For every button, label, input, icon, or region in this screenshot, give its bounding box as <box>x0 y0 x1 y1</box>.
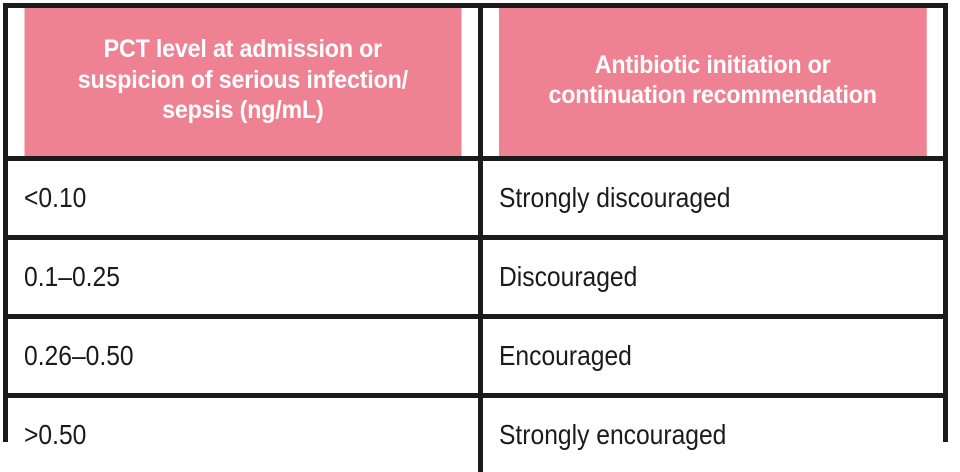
cell-recommendation-text: Strongly discouraged <box>499 183 730 214</box>
table-row: <0.10 Strongly discouraged <box>8 159 943 238</box>
column-header-pct-level: PCT level at admission or suspicion of s… <box>25 8 464 159</box>
table-row: 0.1–0.25 Discouraged <box>8 238 943 317</box>
recommendation-table-container: PCT level at admission or suspicion of s… <box>3 3 948 442</box>
column-header-recommendation: Antibiotic initiation or continuation re… <box>496 8 927 159</box>
table-header: PCT level at admission or suspicion of s… <box>8 8 943 159</box>
column-header-pct-level-line-2: suspicion of serious infection/ <box>36 65 450 96</box>
cell-pct-level-text: 0.1–0.25 <box>24 262 120 293</box>
cell-pct-level-text: <0.10 <box>24 183 86 214</box>
column-header-recommendation-line-1: Antibiotic initiation or <box>510 50 916 81</box>
cell-pct-level-text: >0.50 <box>24 420 86 451</box>
pct-antibiotic-recommendation-table: PCT level at admission or suspicion of s… <box>8 8 943 472</box>
cell-pct-level: 0.1–0.25 <box>8 238 480 317</box>
column-header-pct-level-line-3: sepsis (ng/mL) <box>36 95 450 126</box>
cell-pct-level: >0.50 <box>8 396 480 472</box>
cell-recommendation: Strongly discouraged <box>480 159 943 238</box>
cell-pct-level: 0.26–0.50 <box>8 317 480 396</box>
table-body: <0.10 Strongly discouraged 0.1–0.25 Disc… <box>8 159 943 472</box>
column-header-recommendation-line-2: continuation recommendation <box>510 80 916 111</box>
cell-recommendation: Encouraged <box>480 317 943 396</box>
cell-recommendation-text: Strongly encouraged <box>499 420 726 451</box>
cell-recommendation-text: Encouraged <box>499 341 632 372</box>
cell-recommendation-text: Discouraged <box>499 262 637 293</box>
table-row: 0.26–0.50 Encouraged <box>8 317 943 396</box>
cell-recommendation: Discouraged <box>480 238 943 317</box>
column-header-pct-level-line-1: PCT level at admission or <box>36 34 450 65</box>
cell-recommendation: Strongly encouraged <box>480 396 943 472</box>
cell-pct-level-text: 0.26–0.50 <box>24 341 134 372</box>
table-row: >0.50 Strongly encouraged <box>8 396 943 472</box>
header-row: PCT level at admission or suspicion of s… <box>8 8 943 159</box>
cell-pct-level: <0.10 <box>8 159 480 238</box>
